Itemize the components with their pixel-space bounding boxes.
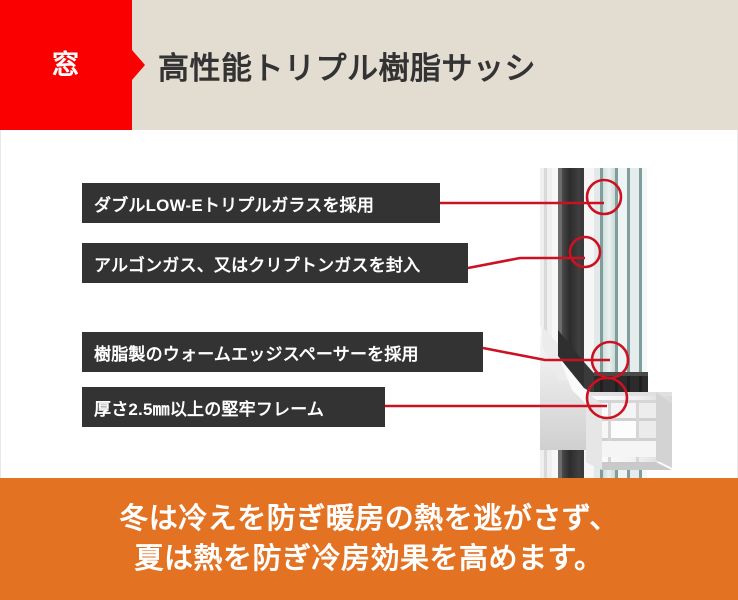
footer-line-1: 冬は冷えを防ぎ暖房の熱を逃がさず、 — [119, 499, 618, 539]
window-cross-section-illustration — [490, 150, 690, 480]
header-bar: 窓 高性能トリプル樹脂サッシ — [0, 0, 738, 130]
window-spec-infographic: 窓 高性能トリプル樹脂サッシ — [0, 0, 738, 600]
header-category-tag: 窓 — [0, 0, 132, 130]
footer-banner: 冬は冷えを防ぎ暖房の熱を逃がさず、 夏は熱を防ぎ冷房効果を高めます。 — [0, 478, 738, 600]
callout-label-frame: 厚さ2.5㎜以上の堅牢フレーム — [82, 387, 385, 427]
footer-line-2: 夏は熱を防ぎ冷房効果を高めます。 — [134, 539, 603, 579]
callout-label-spacer: 樹脂製のウォームエッジスペーサーを採用 — [82, 332, 483, 372]
page-title: 高性能トリプル樹脂サッシ — [158, 0, 536, 130]
header-category-label: 窓 — [52, 52, 80, 79]
header-arrow-icon — [132, 50, 145, 80]
callout-label-glass: ダブルLOW-Eトリプルガラスを採用 — [82, 183, 440, 223]
callout-label-gas: アルゴンガス、又はクリプトンガスを封入 — [82, 243, 468, 283]
